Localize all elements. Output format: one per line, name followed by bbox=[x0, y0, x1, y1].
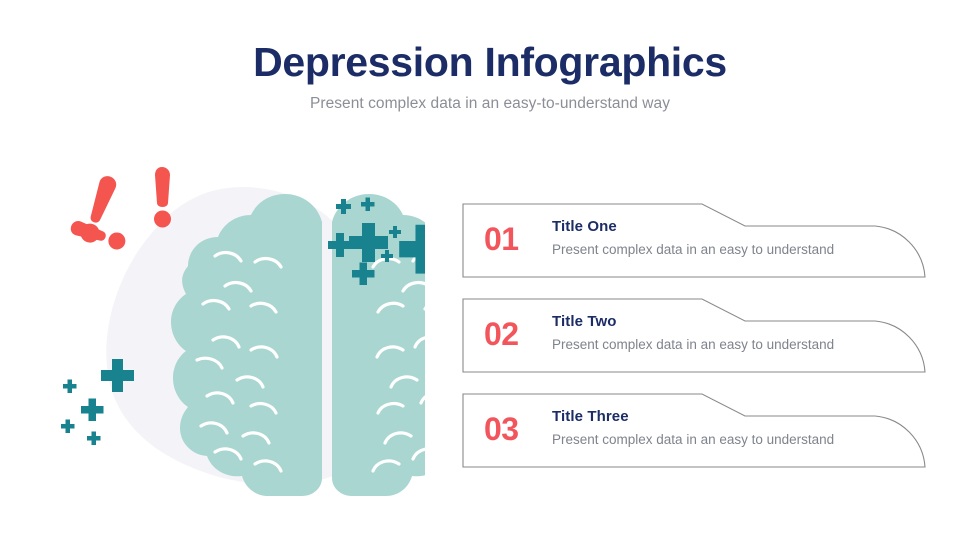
slide-header: Depression Infographics Present complex … bbox=[0, 40, 980, 113]
card-number: 03 bbox=[484, 408, 532, 445]
brain-illustration bbox=[55, 158, 425, 503]
card-title: Title Two bbox=[552, 313, 834, 332]
card-title: Title Three bbox=[552, 408, 834, 427]
card-text-block: Title One Present complex data in an eas… bbox=[552, 218, 834, 259]
card-number: 01 bbox=[484, 218, 532, 255]
info-card[interactable]: 01 Title One Present complex data in an … bbox=[462, 203, 932, 279]
card-description: Present complex data in an easy to under… bbox=[552, 241, 834, 259]
card-content: 02 Title Two Present complex data in an … bbox=[484, 313, 834, 354]
page-subtitle: Present complex data in an easy-to-under… bbox=[0, 95, 980, 113]
slide-canvas: Depression Infographics Present complex … bbox=[0, 0, 980, 551]
card-content: 01 Title One Present complex data in an … bbox=[484, 218, 834, 259]
info-card[interactable]: 03 Title Three Present complex data in a… bbox=[462, 393, 932, 469]
card-text-block: Title Two Present complex data in an eas… bbox=[552, 313, 834, 354]
card-text-block: Title Three Present complex data in an e… bbox=[552, 408, 834, 449]
info-card-list: 01 Title One Present complex data in an … bbox=[462, 203, 932, 473]
card-description: Present complex data in an easy to under… bbox=[552, 431, 834, 449]
card-description: Present complex data in an easy to under… bbox=[552, 336, 834, 354]
card-number: 02 bbox=[484, 313, 532, 350]
page-title: Depression Infographics bbox=[0, 40, 980, 86]
card-content: 03 Title Three Present complex data in a… bbox=[484, 408, 834, 449]
card-title: Title One bbox=[552, 218, 834, 237]
info-card[interactable]: 02 Title Two Present complex data in an … bbox=[462, 298, 932, 374]
